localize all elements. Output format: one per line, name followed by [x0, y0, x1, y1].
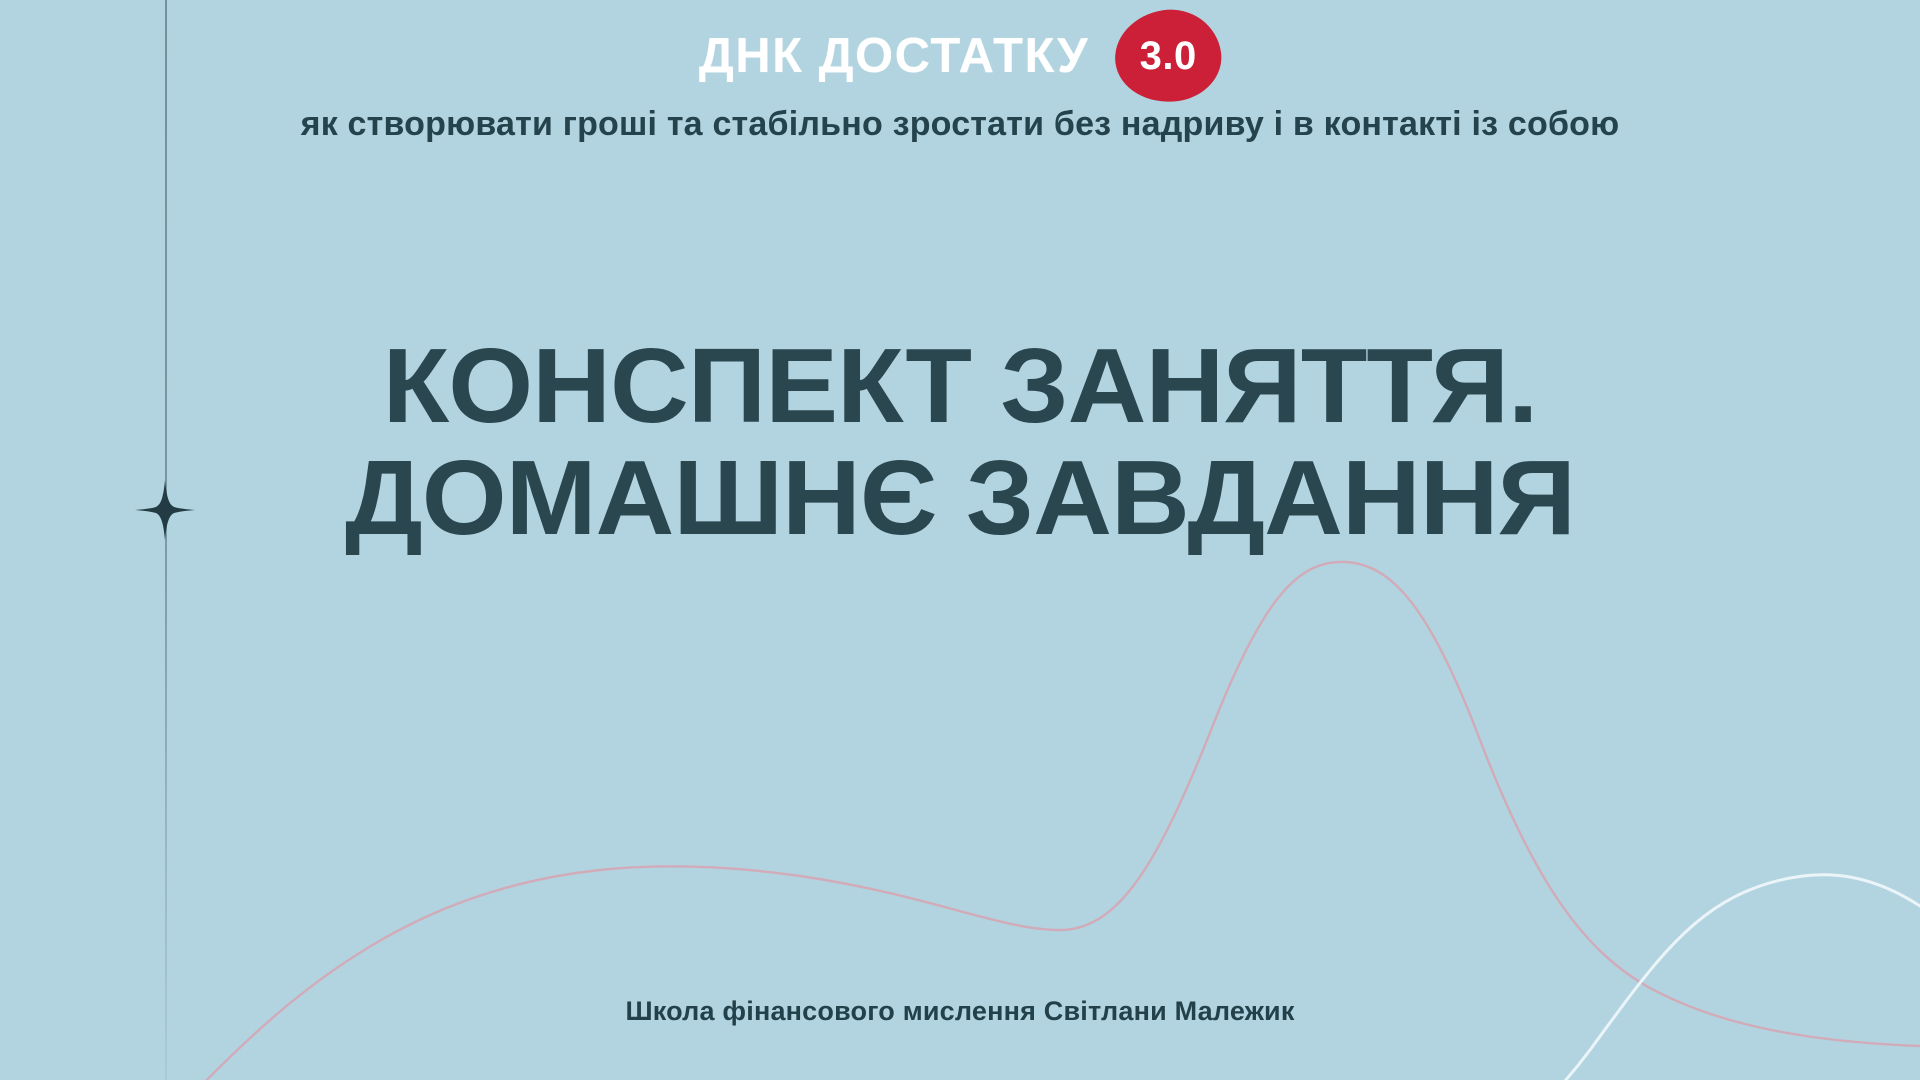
white-wave-curve: [1380, 875, 1920, 1080]
slide-canvas: ДНК ДОСТАТКУ 3.0 як створювати гроші та …: [0, 0, 1920, 1080]
brand-tagline: як створювати гроші та стабільно зростат…: [0, 106, 1920, 143]
page-title: КОНСПЕКТ ЗАНЯТТЯ. ДОМАШНЄ ЗАВДАННЯ: [0, 330, 1920, 555]
slide-header: ДНК ДОСТАТКУ 3.0 як створювати гроші та …: [0, 0, 1920, 143]
brand-title: ДНК ДОСТАТКУ: [699, 32, 1089, 81]
brand-row: ДНК ДОСТАТКУ 3.0: [0, 0, 1920, 112]
slide-footer: Школа фінансового мислення Світлани Мале…: [0, 996, 1920, 1027]
school-name: Школа фінансового мислення Світлани Мале…: [0, 996, 1920, 1027]
page-title-line-2: ДОМАШНЄ ЗАВДАННЯ: [0, 442, 1920, 554]
version-badge: 3.0: [1115, 10, 1221, 102]
page-title-line-1: КОНСПЕКТ ЗАНЯТТЯ.: [0, 330, 1920, 442]
version-badge-label: 3.0: [1140, 36, 1197, 76]
